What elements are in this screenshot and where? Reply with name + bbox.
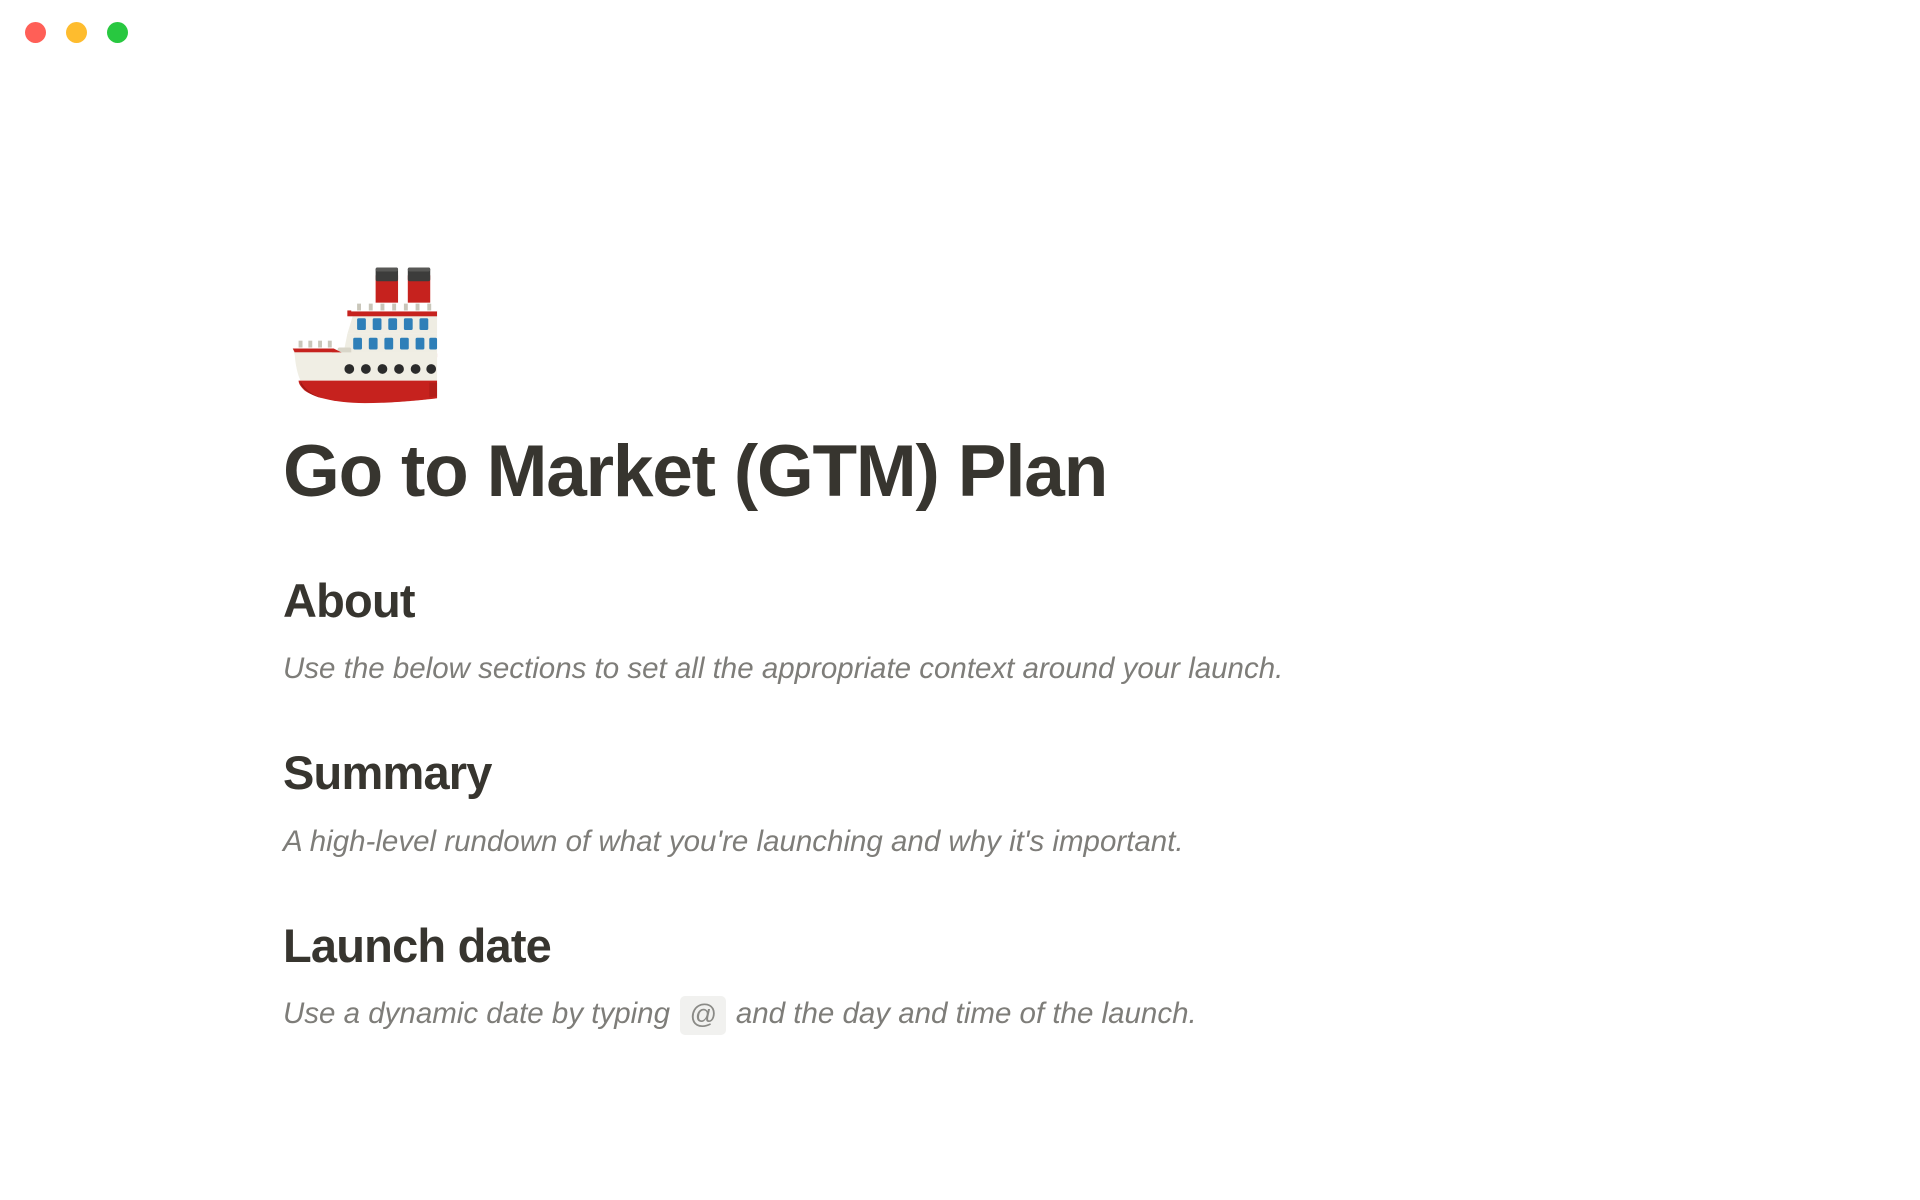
document-content: Go to Market (GTM) Plan About Use the be… bbox=[283, 250, 1783, 1036]
section-launch-date: Launch date Use a dynamic date by typing… bbox=[283, 920, 1783, 1036]
section-body-launch-date[interactable]: Use a dynamic date by typing @ and the d… bbox=[283, 993, 1783, 1036]
section-about: About Use the below sections to set all … bbox=[283, 575, 1783, 691]
at-mention-code-badge[interactable]: @ bbox=[680, 996, 725, 1035]
document-page: Go to Market (GTM) Plan About Use the be… bbox=[0, 0, 1920, 1200]
section-body-summary[interactable]: A high-level rundown of what you're laun… bbox=[283, 821, 1783, 864]
passenger-ship-emoji-icon[interactable] bbox=[283, 250, 439, 406]
page-title[interactable]: Go to Market (GTM) Plan bbox=[283, 434, 1783, 511]
app-window: Go to Market (GTM) Plan About Use the be… bbox=[0, 0, 1920, 1200]
section-heading-summary[interactable]: Summary bbox=[283, 747, 1783, 799]
section-summary: Summary A high-level rundown of what you… bbox=[283, 747, 1783, 863]
section-heading-launch-date[interactable]: Launch date bbox=[283, 920, 1783, 972]
section-heading-about[interactable]: About bbox=[283, 575, 1783, 627]
section-body-about[interactable]: Use the below sections to set all the ap… bbox=[283, 648, 1783, 691]
launch-date-text-prefix: Use a dynamic date by typing bbox=[283, 997, 670, 1030]
launch-date-text-suffix: and the day and time of the launch. bbox=[736, 997, 1197, 1030]
